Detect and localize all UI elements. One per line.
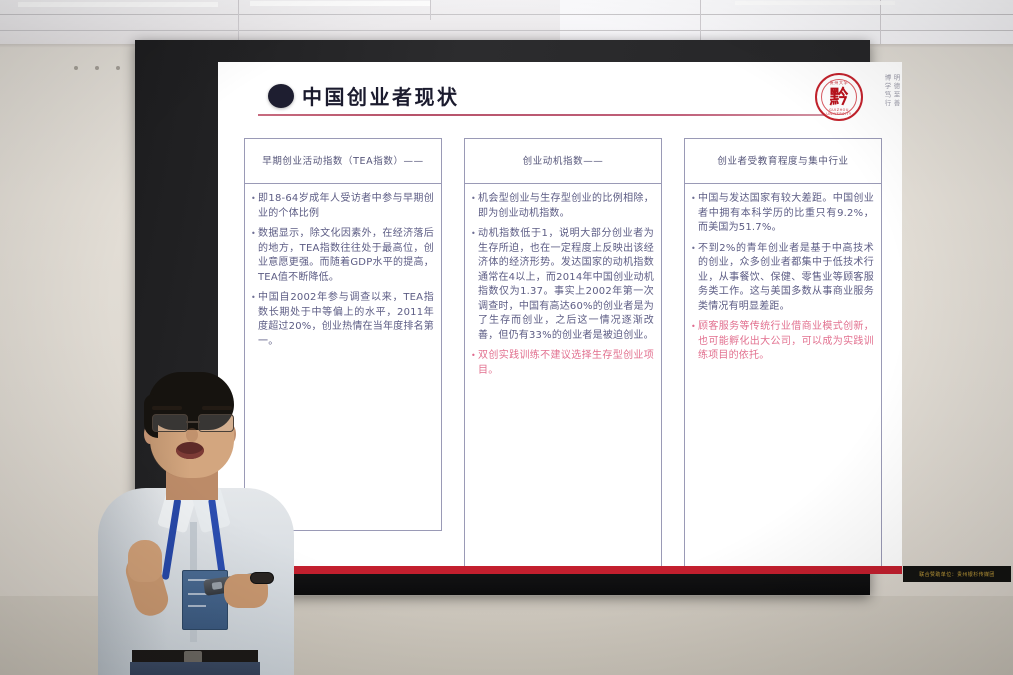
bullet-item-highlight: • 双创实践训练不建议选择生存型创业项目。	[471, 349, 654, 378]
wall-fixture-dot	[74, 66, 78, 70]
bullet-dot-icon: •	[251, 291, 258, 349]
bullet-dot-icon: •	[471, 349, 478, 378]
logo-motto-col-2: 博学笃行	[883, 74, 890, 118]
bullet-item: • 动机指数低于1，说明大部分创业者为生存所迫，也在一定程度上反映出该经济体的经…	[471, 227, 654, 343]
bullet-text: 双创实践训练不建议选择生存型创业项目。	[478, 349, 654, 378]
title-divider	[258, 114, 854, 116]
bullet-text: 不到2%的青年创业者是基于中高技术的创业，众多创业者都集中于低技术行业，从事餐饮…	[698, 242, 874, 315]
logo-motto-col-1: 明德至善	[892, 74, 899, 118]
bullet-text: 即18-64岁成年人受访者中参与早期创业的个体比例	[258, 192, 434, 221]
presenter-eyebrow-left	[152, 406, 182, 410]
badge-line	[188, 605, 206, 607]
bullet-text: 中国自2002年参与调查以来，TEA指数长期处于中等偏上的水平，2011年度超过…	[258, 291, 434, 349]
column-header: 创业者受教育程度与集中行业	[684, 138, 882, 184]
logo-seal-icon: 贵州大学 黔 GUIZHOU UNIVERSITY	[815, 73, 863, 121]
bullet-text: 顾客服务等传统行业借商业模式创新，也可能孵化出大公司，可以成为实践训练项目的依托…	[698, 320, 874, 364]
bullet-item: • 不到2%的青年创业者是基于中高技术的创业，众多创业者都集中于低技术行业，从事…	[691, 242, 874, 315]
slide-footer-bar: 中 国 贵 州	[218, 566, 902, 574]
university-logo: 贵州大学 黔 GUIZHOU UNIVERSITY 明德至善 博学笃行	[815, 71, 901, 119]
bullet-dot-icon: •	[471, 227, 478, 343]
column-header: 创业动机指数——	[464, 138, 662, 184]
ceiling-grid-line	[0, 30, 1013, 31]
conference-room-photo: 联合赞助单位：贵州银杉传媒团 中国创业者现状 贵州大学 黔 GUIZHOU UN…	[0, 0, 1013, 675]
glasses-bridge	[186, 421, 200, 423]
presenter-left-hand	[128, 540, 162, 582]
ceiling-grid-line	[238, 0, 239, 44]
bullet-dot-icon: •	[691, 320, 698, 364]
bullet-item: • 中国与发达国家有较大差距。中国创业者中拥有本科学历的比重只有9.2%，而美国…	[691, 192, 874, 236]
bullet-item: • 中国自2002年参与调查以来，TEA指数长期处于中等偏上的水平，2011年度…	[251, 291, 434, 349]
bullet-item: • 机会型创业与生存型创业的比例相除，即为创业动机指数。	[471, 192, 654, 221]
bullet-dot-icon: •	[691, 242, 698, 315]
column-body: • 中国与发达国家有较大差距。中国创业者中拥有本科学历的比重只有9.2%，而美国…	[684, 184, 882, 574]
sponsor-plate: 联合赞助单位：贵州银杉传媒团	[903, 566, 1011, 582]
slide-column-motivation-index: 创业动机指数—— • 机会型创业与生存型创业的比例相除，即为创业动机指数。 • …	[464, 138, 662, 566]
bullet-item: • 数据显示，除文化因素外，在经济落后的地方，TEA指数往往处于最高位，创业意愿…	[251, 227, 434, 285]
logo-glyph: 黔	[827, 84, 851, 110]
ceiling-light	[250, 1, 430, 6]
presenter-nose	[186, 428, 198, 442]
remote-button	[212, 582, 223, 590]
column-header: 早期创业活动指数（TEA指数）——	[244, 138, 442, 184]
logo-motto: 明德至善 博学笃行	[865, 74, 899, 118]
glasses-lens-left	[152, 414, 188, 432]
slide-header: 中国创业者现状 贵州大学 黔 GUIZHOU UNIVERSITY 明德至善 博…	[218, 62, 902, 118]
presenter	[90, 372, 300, 675]
ceiling-light	[735, 1, 895, 5]
presenter-bracelet	[250, 572, 274, 584]
bullet-text: 机会型创业与生存型创业的比例相除，即为创业动机指数。	[478, 192, 654, 221]
logo-arc-bottom-text: GUIZHOU UNIVERSITY	[822, 108, 856, 115]
presenter-eyebrow-right	[202, 406, 232, 410]
presenter-jeans	[130, 662, 260, 675]
presentation-slide: 中国创业者现状 贵州大学 黔 GUIZHOU UNIVERSITY 明德至善 博…	[218, 62, 902, 574]
bullet-item-highlight: • 顾客服务等传统行业借商业模式创新，也可能孵化出大公司，可以成为实践训练项目的…	[691, 320, 874, 364]
bullet-dot-icon: •	[471, 192, 478, 221]
bullet-dot-icon: •	[251, 192, 258, 221]
ceiling-light	[18, 2, 218, 7]
presenter-mouth	[176, 442, 204, 459]
wall-fixture-dot	[116, 66, 120, 70]
bullet-dot-icon: •	[251, 227, 258, 285]
page-title: 中国创业者现状	[302, 81, 460, 110]
column-header-label: 创业动机指数——	[523, 155, 604, 168]
ceiling-bright-area	[560, 0, 1013, 44]
logo-arc-top-text: 贵州大学	[824, 80, 854, 88]
column-header-label: 创业者受教育程度与集中行业	[717, 155, 848, 168]
ceiling-grid-line	[430, 0, 431, 20]
glasses-lens-right	[198, 414, 234, 432]
title-bullet-icon	[268, 84, 294, 108]
slide-column-education-industry: 创业者受教育程度与集中行业 • 中国与发达国家有较大差距。中国创业者中拥有本科学…	[684, 138, 882, 566]
bullet-text: 数据显示，除文化因素外，在经济落后的地方，TEA指数往往处于最高位，创业意愿更强…	[258, 227, 434, 285]
bullet-text: 动机指数低于1，说明大部分创业者为生存所迫，也在一定程度上反映出该经济体的经济形…	[478, 227, 654, 343]
column-body: • 机会型创业与生存型创业的比例相除，即为创业动机指数。 • 动机指数低于1，说…	[464, 184, 662, 574]
wall-fixture-dot	[95, 66, 99, 70]
slide-columns: 早期创业活动指数（TEA指数）—— • 即18-64岁成年人受访者中参与早期创业…	[244, 138, 884, 566]
column-header-label: 早期创业活动指数（TEA指数）——	[262, 155, 424, 168]
sponsor-plate-label: 联合赞助单位：贵州银杉传媒团	[919, 571, 995, 578]
ceiling-grid-line	[0, 14, 1013, 15]
bullet-item: • 即18-64岁成年人受访者中参与早期创业的个体比例	[251, 192, 434, 221]
bullet-dot-icon: •	[691, 192, 698, 236]
ceiling-grid-line	[880, 0, 881, 44]
ceiling-grid-line	[700, 0, 701, 44]
bullet-text: 中国与发达国家有较大差距。中国创业者中拥有本科学历的比重只有9.2%，而美国为5…	[698, 192, 874, 236]
